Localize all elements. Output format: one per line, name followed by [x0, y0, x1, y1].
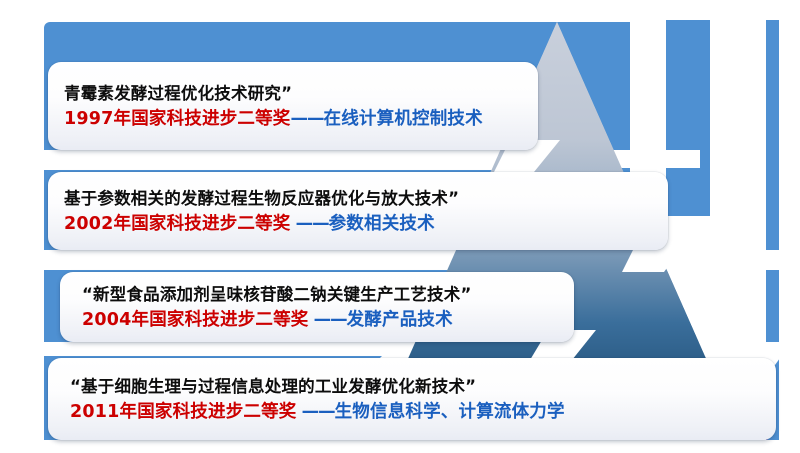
notch-strip-left-2 [44, 250, 434, 270]
bottom-white-margin [0, 440, 800, 453]
award-card-2004[interactable]: “新型食品添加剂呈味核苷酸二钠关键生产工艺技术” 2004年国家科技进步二等奖 … [60, 272, 574, 342]
award-technology-label: 发酵产品技术 [347, 310, 453, 330]
award-card-1997[interactable]: 青霉素发酵过程优化技术研究” 1997年国家科技进步二等奖——在线计算机控制技术 [48, 62, 538, 150]
award-year-label: 2011年国家科技进步二等奖 [70, 402, 297, 422]
award-year-label: 2002年国家科技进步二等奖 [64, 214, 291, 234]
award-card-subtitle: 2004年国家科技进步二等奖 ——发酵产品技术 [76, 309, 558, 332]
award-card-subtitle: 1997年国家科技进步二等奖——在线计算机控制技术 [64, 108, 522, 131]
award-technology-label: 生物信息科学、计算流体力学 [335, 402, 565, 422]
award-year-label: 1997年国家科技进步二等奖 [64, 109, 291, 129]
notch-strip-left-3 [44, 342, 396, 356]
award-dash: —— [297, 402, 335, 422]
award-card-title: 青霉素发酵过程优化技术研究” [64, 83, 522, 105]
award-technology-label: 参数相关技术 [329, 214, 435, 234]
award-year-label: 2004年国家科技进步二等奖 [82, 310, 309, 330]
award-card-title: “新型食品添加剂呈味核苷酸二钠关键生产工艺技术” [76, 284, 558, 306]
award-dash: —— [291, 109, 324, 129]
award-card-2002[interactable]: 基于参数相关的发酵过程生物反应器优化与放大技术” 2002年国家科技进步二等奖 … [48, 172, 668, 250]
award-card-title: 基于参数相关的发酵过程生物反应器优化与放大技术” [64, 188, 652, 210]
top-white-margin [0, 0, 800, 20]
blue-bar-wide [665, 20, 710, 216]
notch-strip-left-1 [44, 150, 474, 170]
award-dash: —— [291, 214, 329, 234]
award-dash: —— [309, 310, 347, 330]
slide-canvas: 青霉素发酵过程优化技术研究” 1997年国家科技进步二等奖——在线计算机控制技术… [0, 0, 800, 453]
award-card-subtitle: 2011年国家科技进步二等奖 ——生物信息科学、计算流体力学 [64, 401, 760, 424]
award-card-2011[interactable]: “基于细胞生理与过程信息处理的工业发酵优化新技术” 2011年国家科技进步二等奖… [48, 358, 776, 440]
right-white-margin [780, 0, 800, 453]
award-technology-label: 在线计算机控制技术 [324, 109, 483, 129]
award-card-subtitle: 2002年国家科技进步二等奖 ——参数相关技术 [64, 213, 652, 236]
award-card-title: “基于细胞生理与过程信息处理的工业发酵优化新技术” [64, 376, 760, 398]
left-white-margin [0, 0, 44, 453]
